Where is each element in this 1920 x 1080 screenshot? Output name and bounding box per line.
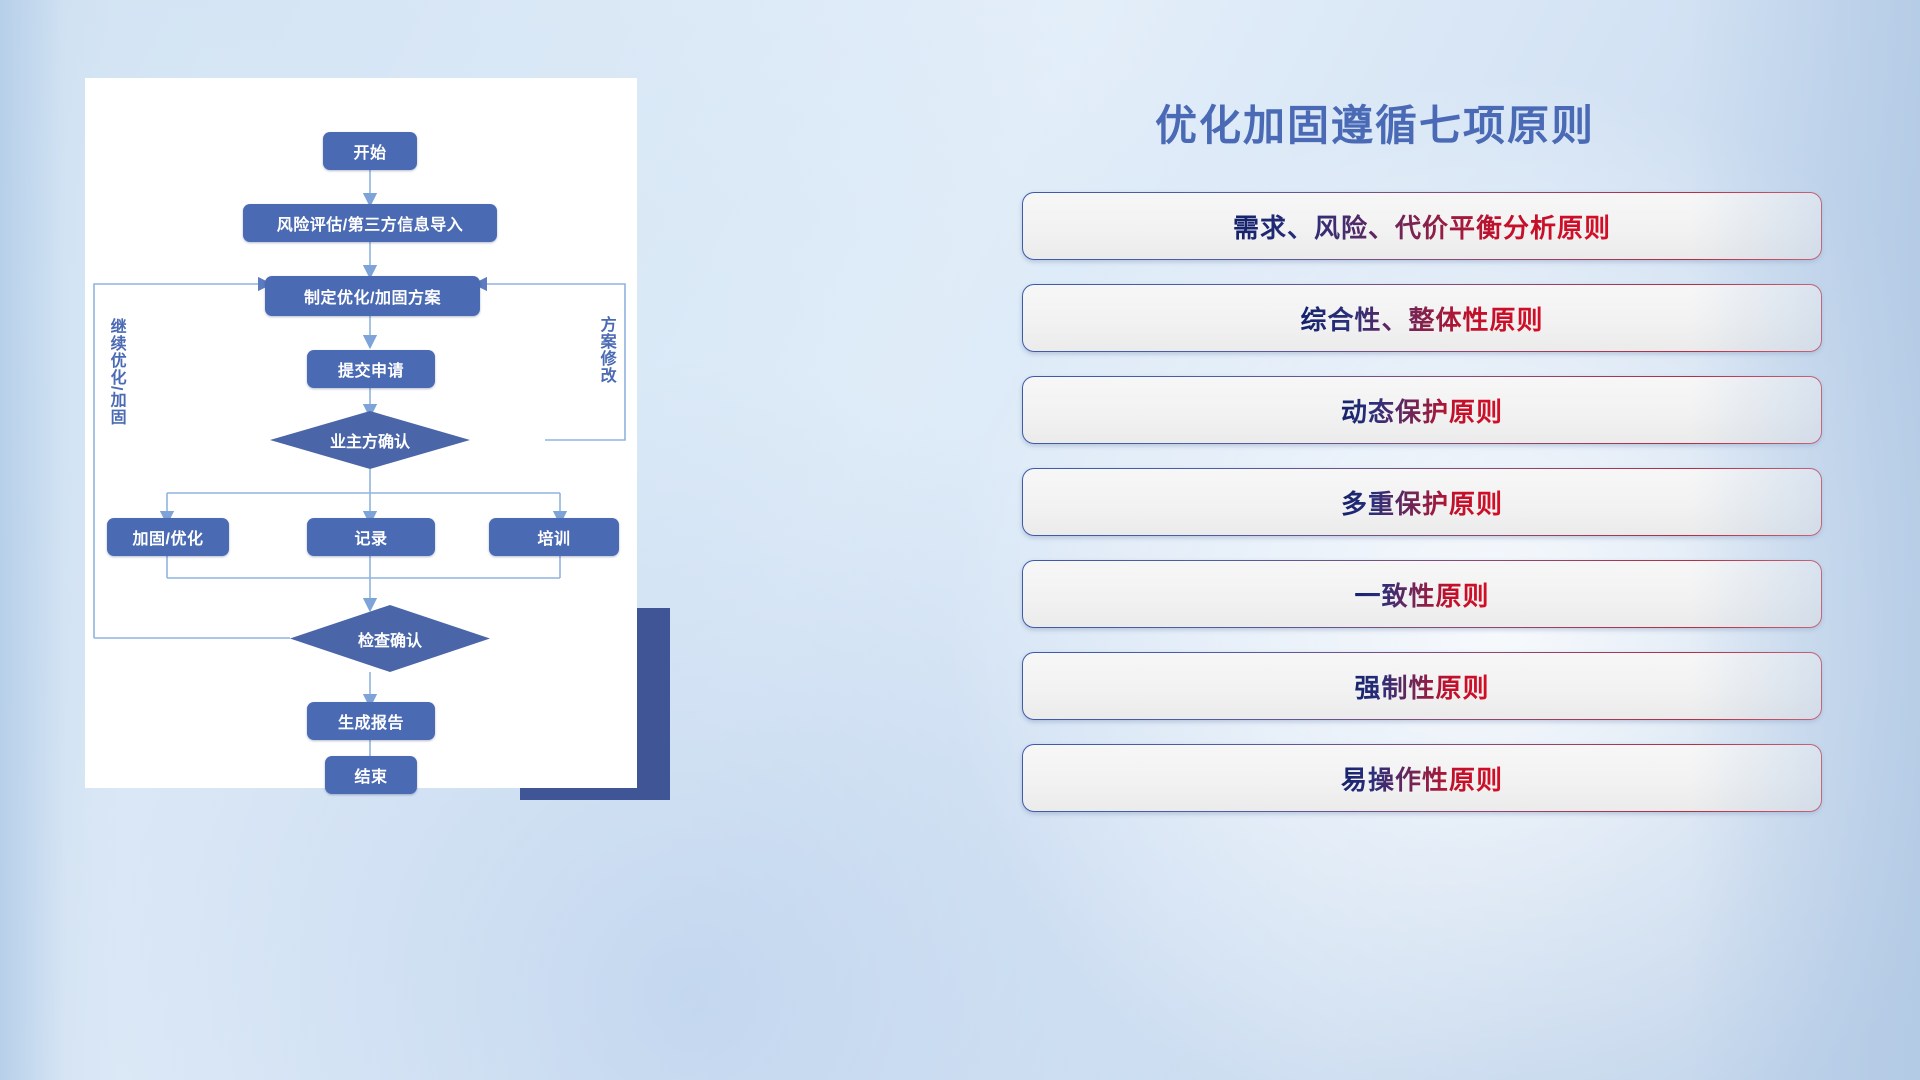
flow-node-make-plan[interactable]: 制定优化/加固方案 <box>265 276 480 316</box>
principles-list: 需求、风险、代价平衡分析原则 综合性、整体性原则 动态保护原则 多重保护原则 一… <box>1022 192 1822 836</box>
flow-node-risk-assessment[interactable]: 风险评估/第三方信息导入 <box>243 204 497 242</box>
flow-edge-label-continue-optimize: 继续优化/加固 <box>107 318 124 425</box>
flow-node-label: 提交申请 <box>338 357 404 381</box>
principle-label: 强制性原则 <box>1354 668 1489 705</box>
flow-node-label: 开始 <box>353 139 386 163</box>
flow-node-training[interactable]: 培训 <box>489 518 619 556</box>
flow-node-start[interactable]: 开始 <box>323 132 417 170</box>
flow-node-label: 生成报告 <box>338 709 404 733</box>
flow-node-submit-application[interactable]: 提交申请 <box>307 350 435 388</box>
principle-label: 综合性、整体性原则 <box>1300 300 1543 337</box>
flow-node-end[interactable]: 结束 <box>325 756 417 794</box>
flow-node-reinforce-optimize[interactable]: 加固/优化 <box>107 518 229 556</box>
flowchart-panel: 开始 风险评估/第三方信息导入 制定优化/加固方案 提交申请 业主方确认 加固/… <box>85 78 637 788</box>
principle-card[interactable]: 多重保护原则 <box>1022 468 1822 536</box>
flow-node-generate-report[interactable]: 生成报告 <box>307 702 435 740</box>
flow-node-label: 制定优化/加固方案 <box>304 284 441 308</box>
principle-label: 易操作性原则 <box>1341 760 1503 797</box>
principle-card[interactable]: 易操作性原则 <box>1022 744 1822 812</box>
principle-card[interactable]: 动态保护原则 <box>1022 376 1822 444</box>
flow-node-label: 检查确认 <box>358 627 422 651</box>
principle-label: 多重保护原则 <box>1341 484 1503 521</box>
principle-card[interactable]: 一致性原则 <box>1022 560 1822 628</box>
flowchart: 开始 风险评估/第三方信息导入 制定优化/加固方案 提交申请 业主方确认 加固/… <box>85 78 637 788</box>
principle-card-inner: 需求、风险、代价平衡分析原则 <box>1023 193 1821 259</box>
flow-node-label: 培训 <box>537 525 570 549</box>
principle-label: 一致性原则 <box>1354 576 1489 613</box>
principle-card[interactable]: 需求、风险、代价平衡分析原则 <box>1022 192 1822 260</box>
flow-node-label: 业主方确认 <box>330 428 410 452</box>
flow-node-label: 记录 <box>354 525 387 549</box>
principle-card-inner: 一致性原则 <box>1023 561 1821 627</box>
principle-card[interactable]: 综合性、整体性原则 <box>1022 284 1822 352</box>
principle-card-inner: 综合性、整体性原则 <box>1023 285 1821 351</box>
flow-node-label: 结束 <box>354 763 387 787</box>
principle-card-inner: 强制性原则 <box>1023 653 1821 719</box>
flow-edge-label-plan-revision: 方案修改 <box>597 316 614 384</box>
flow-node-label: 风险评估/第三方信息导入 <box>277 211 463 235</box>
flow-node-label: 加固/优化 <box>133 525 204 549</box>
principle-label: 需求、风险、代价平衡分析原则 <box>1233 208 1611 245</box>
principle-card[interactable]: 强制性原则 <box>1022 652 1822 720</box>
principle-card-inner: 易操作性原则 <box>1023 745 1821 811</box>
principle-card-inner: 多重保护原则 <box>1023 469 1821 535</box>
slide-background: 开始 风险评估/第三方信息导入 制定优化/加固方案 提交申请 业主方确认 加固/… <box>0 0 1920 1080</box>
principle-card-inner: 动态保护原则 <box>1023 377 1821 443</box>
page-title: 优化加固遵循七项原则 <box>1155 92 1595 153</box>
flow-node-record[interactable]: 记录 <box>307 518 435 556</box>
principle-label: 动态保护原则 <box>1341 392 1503 429</box>
